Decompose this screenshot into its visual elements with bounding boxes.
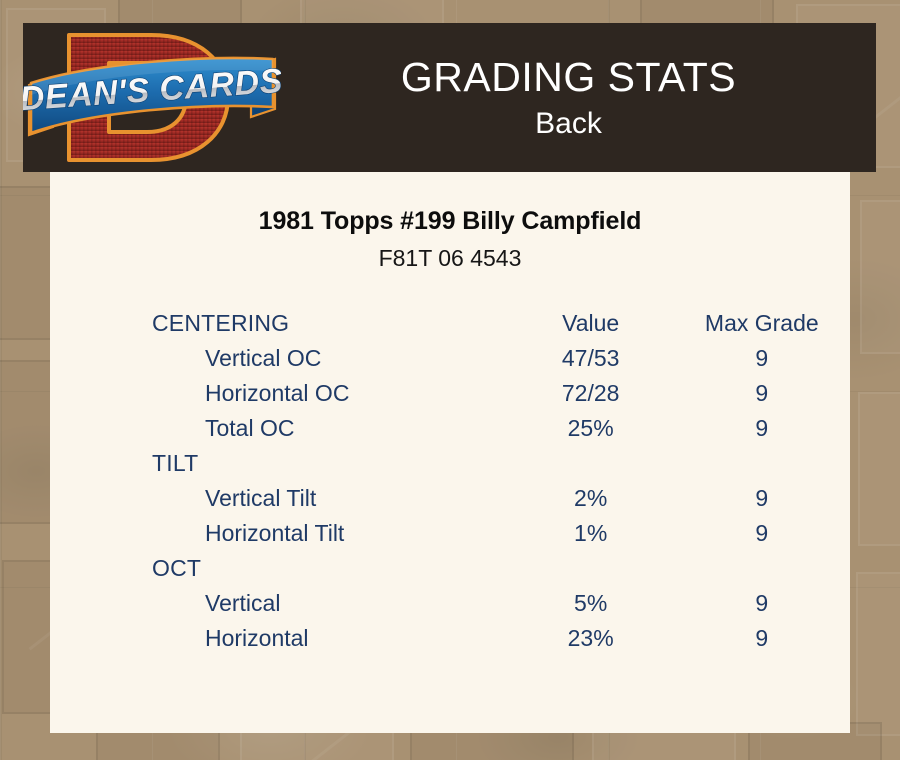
table-row: Horizontal 23% 9 bbox=[152, 621, 852, 656]
section-header-row-tilt: TILT bbox=[152, 446, 852, 481]
card-title: 1981 Topps #199 Billy Campfield bbox=[50, 207, 850, 236]
header-bar: DEAN'S CARDS GRADING STATS Back bbox=[23, 23, 876, 172]
table-row: Horizontal Tilt 1% 9 bbox=[152, 516, 852, 551]
grading-stats-page: DEAN'S CARDS GRADING STATS Back 1981 Top… bbox=[0, 0, 900, 760]
row-max-grade: 9 bbox=[672, 621, 852, 656]
section-spacer-grade bbox=[672, 551, 852, 586]
table-row: Vertical OC 47/53 9 bbox=[152, 341, 852, 376]
section-spacer-value bbox=[510, 446, 672, 481]
row-value: 2% bbox=[510, 481, 672, 516]
row-max-grade: 9 bbox=[672, 376, 852, 411]
row-value: 1% bbox=[510, 516, 672, 551]
deans-cards-logo[interactable]: DEAN'S CARDS bbox=[23, 23, 281, 172]
page-subtitle: Back bbox=[281, 109, 856, 139]
row-value: 5% bbox=[510, 586, 672, 621]
row-max-grade: 9 bbox=[672, 516, 852, 551]
row-max-grade: 9 bbox=[672, 411, 852, 446]
page-title: GRADING STATS bbox=[281, 57, 856, 98]
table-row: Total OC 25% 9 bbox=[152, 411, 852, 446]
row-value: 25% bbox=[510, 411, 672, 446]
column-header-max-grade: Max Grade bbox=[672, 306, 852, 341]
header-title-group: GRADING STATS Back bbox=[281, 57, 876, 139]
section-spacer-grade bbox=[672, 446, 852, 481]
row-label: Horizontal OC bbox=[152, 376, 510, 411]
logo-artwork: DEAN'S CARDS bbox=[23, 23, 281, 172]
row-label: Vertical OC bbox=[152, 341, 510, 376]
row-label: Horizontal bbox=[152, 621, 510, 656]
section-title: OCT bbox=[152, 551, 510, 586]
table-row: Vertical Tilt 2% 9 bbox=[152, 481, 852, 516]
row-max-grade: 9 bbox=[672, 481, 852, 516]
section-header-row-oct: OCT bbox=[152, 551, 852, 586]
row-label: Total OC bbox=[152, 411, 510, 446]
column-header-centering: CENTERING bbox=[152, 306, 510, 341]
table-row: Horizontal OC 72/28 9 bbox=[152, 376, 852, 411]
section-spacer-value bbox=[510, 551, 672, 586]
row-value: 23% bbox=[510, 621, 672, 656]
card-serial-number: F81T 06 4543 bbox=[50, 245, 850, 272]
row-value: 47/53 bbox=[510, 341, 672, 376]
stats-table-body: CENTERING Value Max Grade Vertical OC 47… bbox=[152, 306, 852, 656]
section-title: TILT bbox=[152, 446, 510, 481]
row-max-grade: 9 bbox=[672, 341, 852, 376]
table-row: Vertical 5% 9 bbox=[152, 586, 852, 621]
row-max-grade: 9 bbox=[672, 586, 852, 621]
row-label: Horizontal Tilt bbox=[152, 516, 510, 551]
row-label: Vertical Tilt bbox=[152, 481, 510, 516]
row-label: Vertical bbox=[152, 586, 510, 621]
table-header-row: CENTERING Value Max Grade bbox=[152, 306, 852, 341]
content-panel: 1981 Topps #199 Billy Campfield F81T 06 … bbox=[50, 172, 850, 733]
grading-stats-table: CENTERING Value Max Grade Vertical OC 47… bbox=[152, 306, 852, 656]
row-value: 72/28 bbox=[510, 376, 672, 411]
column-header-value: Value bbox=[510, 306, 672, 341]
